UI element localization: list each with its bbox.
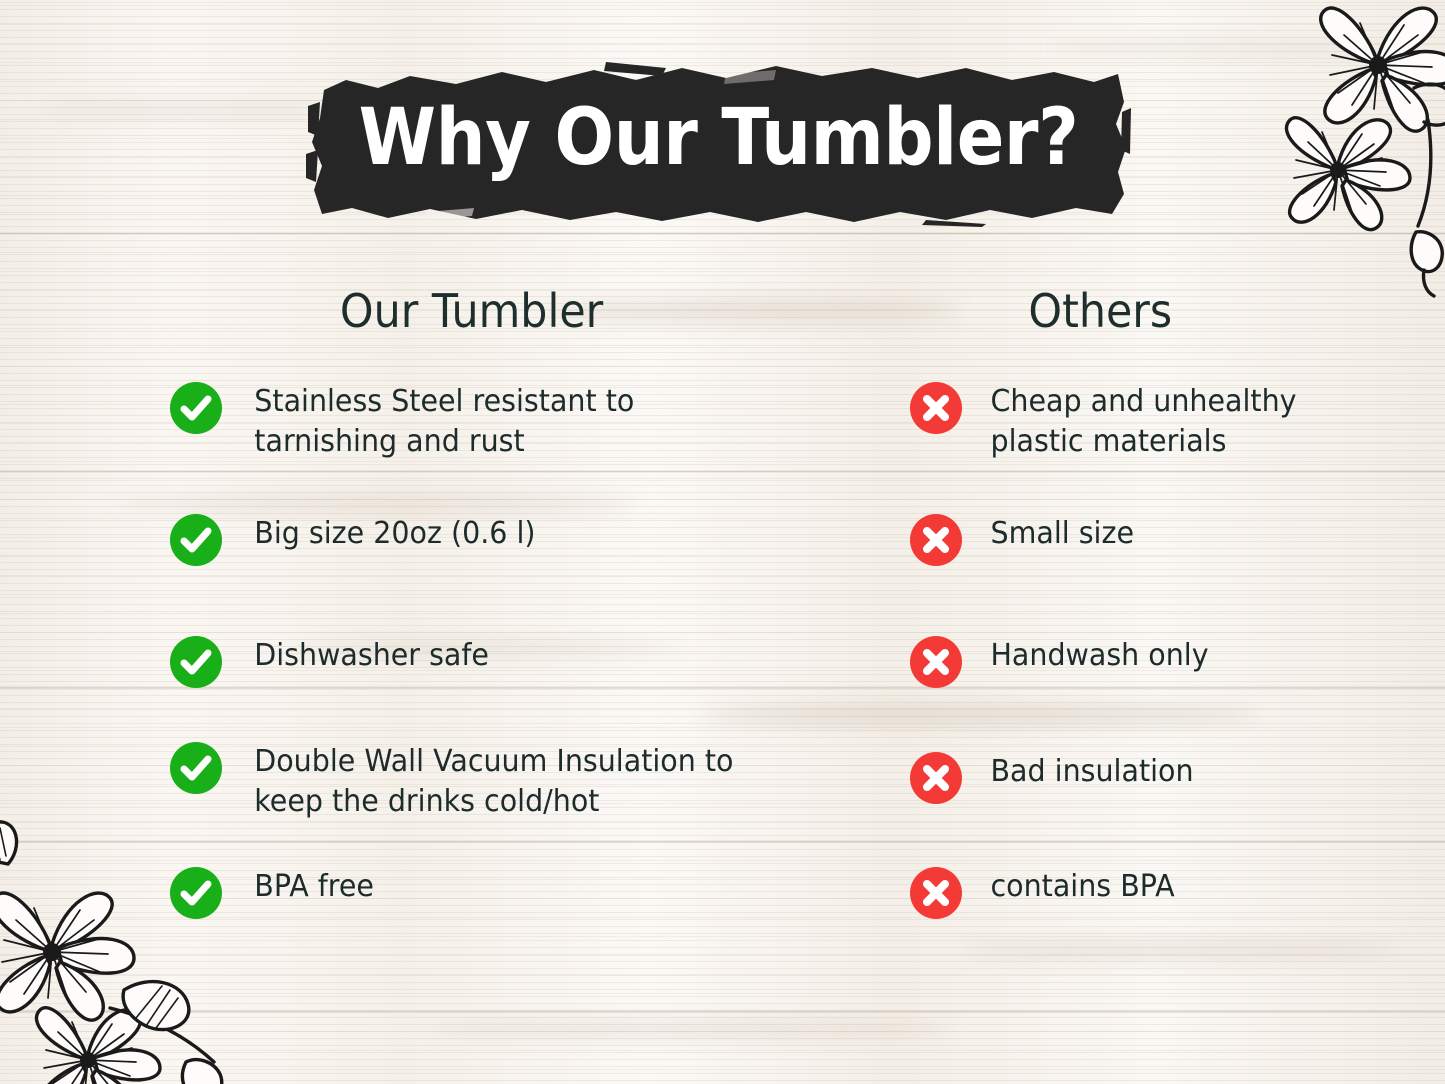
x-circle-icon — [910, 636, 962, 688]
list-item-label: BPA free — [222, 867, 374, 907]
check-circle-icon — [170, 382, 222, 434]
list-item-label: Bad insulation — [962, 752, 1194, 792]
x-circle-icon — [910, 514, 962, 566]
list-item-label: Cheap and unhealthy plastic materials — [962, 382, 1297, 462]
plank-seam — [0, 232, 1445, 235]
check-circle-icon — [170, 636, 222, 688]
list-item-label: Handwash only — [962, 636, 1209, 676]
plank-seam — [0, 470, 1445, 473]
list-item: Handwash only — [910, 636, 1222, 688]
list-item: Big size 20oz (0.6 l) — [170, 514, 552, 566]
list-item: contains BPA — [910, 867, 1186, 919]
list-item-label: Dishwasher safe — [222, 636, 489, 676]
list-item-label: Big size 20oz (0.6 l) — [222, 514, 536, 554]
list-item: BPA free — [170, 867, 382, 919]
check-circle-icon — [170, 514, 222, 566]
promo-canvas: Why Our Tumbler? Our Tumbler Others Stai… — [0, 0, 1445, 1084]
list-item: Stainless Steel resistant to tarnishing … — [170, 382, 656, 462]
list-item-label: Double Wall Vacuum Insulation to keep th… — [222, 742, 733, 822]
list-item: Cheap and unhealthy plastic materials — [910, 382, 1314, 462]
list-item-label: Stainless Steel resistant to tarnishing … — [222, 382, 634, 462]
page-title: Why Our Tumbler? — [347, 90, 1090, 186]
plank-seam — [0, 1010, 1445, 1013]
check-circle-icon — [170, 867, 222, 919]
check-circle-icon — [170, 742, 222, 794]
list-item-label: contains BPA — [962, 867, 1175, 907]
list-item: Bad insulation — [910, 752, 1206, 804]
x-circle-icon — [910, 867, 962, 919]
column-header-others: Others — [1028, 285, 1172, 337]
x-circle-icon — [910, 752, 962, 804]
column-header-ours: Our Tumbler — [340, 285, 603, 337]
title-banner: Why Our Tumbler? — [306, 62, 1131, 227]
x-circle-icon — [910, 382, 962, 434]
plank-seam — [0, 840, 1445, 843]
list-item-label: Small size — [962, 514, 1134, 554]
list-item: Double Wall Vacuum Insulation to keep th… — [170, 742, 760, 822]
list-item: Dishwasher safe — [170, 636, 503, 688]
list-item: Small size — [910, 514, 1143, 566]
